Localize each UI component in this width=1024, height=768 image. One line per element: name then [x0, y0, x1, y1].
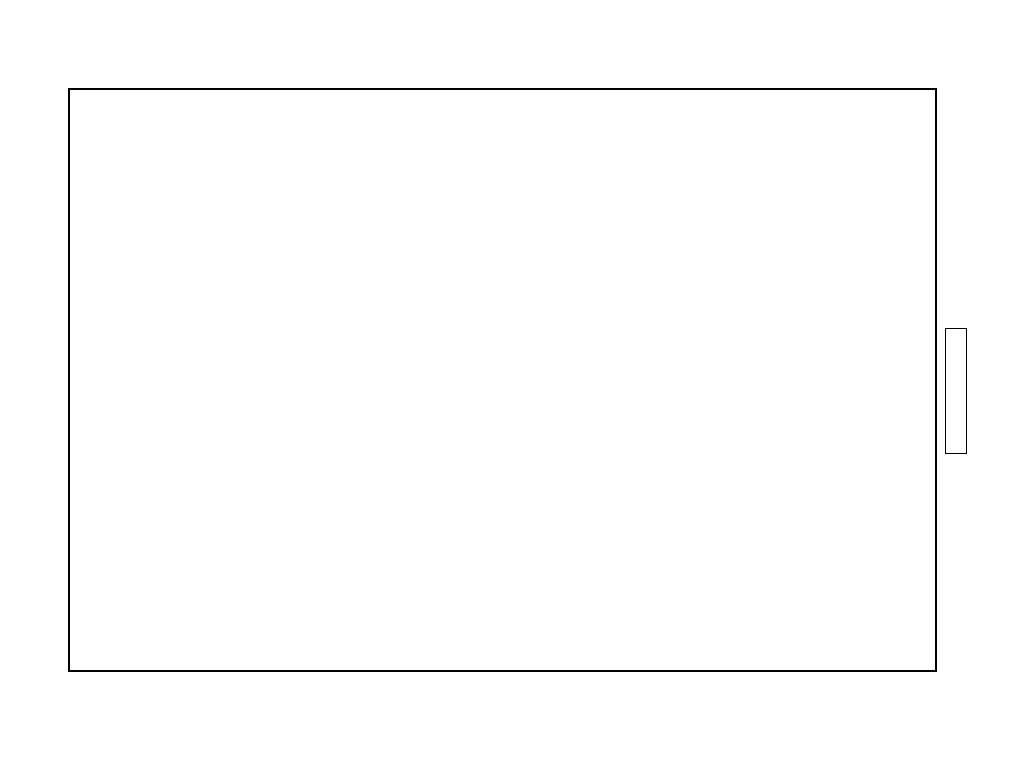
- colorbar-body: [945, 328, 967, 454]
- richardson-number-field: [70, 90, 935, 670]
- chart-root: [0, 0, 1024, 768]
- colorbar-cap-bottom: [943, 296, 969, 330]
- plot-area: [68, 88, 937, 672]
- y-axis: [0, 88, 60, 672]
- colorbar: [943, 296, 969, 486]
